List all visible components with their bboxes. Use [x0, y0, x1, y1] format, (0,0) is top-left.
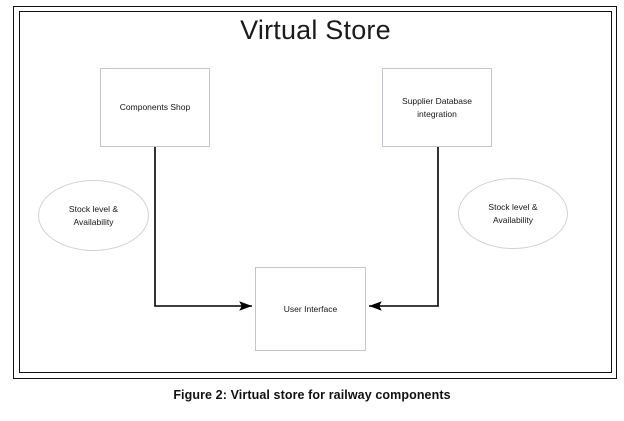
node-supplier-database-integration[interactable]: Supplier Database integration: [382, 68, 492, 147]
diagram-canvas: Virtual Store Components Shop Supplier D…: [19, 11, 612, 373]
edge-components-shop-to-user-interface: [155, 147, 252, 306]
edge-supplier-database-to-user-interface: [369, 147, 438, 306]
node-stock-level-availability-left-label: Stock level & Availability: [69, 203, 118, 229]
node-user-interface-label: User Interface: [284, 303, 337, 315]
node-supplier-database-integration-label: Supplier Database integration: [402, 95, 472, 120]
figure-container: Virtual Store Components Shop Supplier D…: [0, 0, 624, 421]
diagram-title: Virtual Store: [19, 16, 612, 46]
node-stock-level-availability-right[interactable]: Stock level & Availability: [458, 178, 568, 249]
node-stock-level-availability-right-label: Stock level & Availability: [488, 201, 537, 227]
node-stock-level-availability-left[interactable]: Stock level & Availability: [38, 180, 149, 251]
node-user-interface[interactable]: User Interface: [255, 267, 366, 351]
figure-caption: Figure 2: Virtual store for railway comp…: [0, 388, 624, 402]
node-components-shop-label: Components Shop: [120, 101, 190, 113]
node-components-shop[interactable]: Components Shop: [100, 68, 210, 147]
